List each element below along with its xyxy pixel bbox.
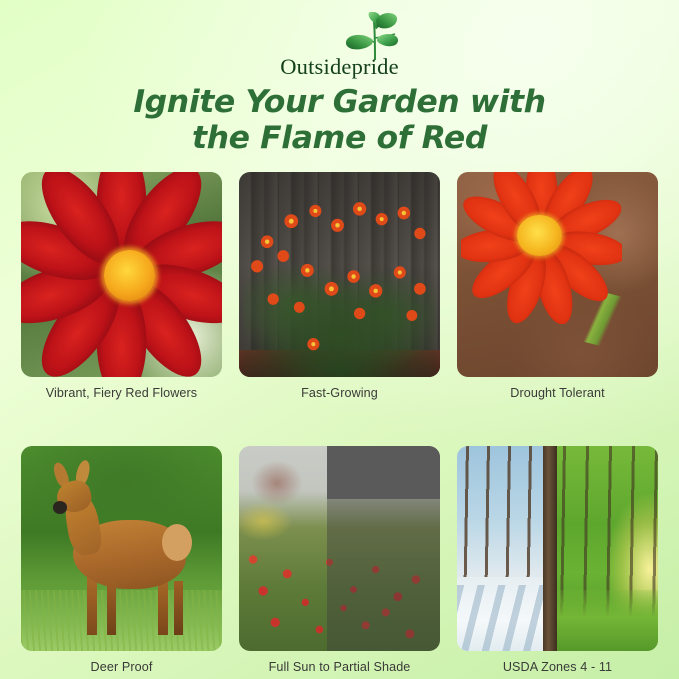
deer-leg <box>107 581 116 634</box>
page-title-line1: Ignite Your Garden with <box>133 84 545 120</box>
center-trunk <box>543 446 557 651</box>
feature-caption-vibrant-red-flowers: Vibrant, Fiery Red Flowers <box>21 386 222 400</box>
page-title: Ignite Your Garden with the Flame of Red <box>0 84 679 156</box>
feature-photo-fast-growing <box>239 172 440 377</box>
feature-photo-vibrant-red-flowers <box>21 172 222 377</box>
feature-caption-sun-exposure: Full Sun to Partial Shade <box>239 660 440 674</box>
deer-rump <box>162 524 192 561</box>
feature-caption-usda-zones: USDA Zones 4 - 11 <box>457 660 658 674</box>
snow-shadows <box>457 585 553 651</box>
feature-caption-drought-tolerant: Drought Tolerant <box>457 386 658 400</box>
brand-logo: Outsidepride <box>0 12 679 80</box>
feature-card-usda-zones: USDA Zones 4 - 11 <box>457 446 658 674</box>
shade-overlay-half <box>327 446 440 651</box>
flower-center <box>517 215 561 256</box>
feature-photo-usda-zones <box>457 446 658 651</box>
summer-grass <box>553 590 658 652</box>
deer-leg <box>87 577 97 634</box>
feature-caption-deer-proof: Deer Proof <box>21 660 222 674</box>
feature-card-sun-exposure: Full Sun to Partial Shade <box>239 446 440 674</box>
feature-card-deer-proof: Deer Proof <box>21 446 222 674</box>
feature-photo-sun-exposure <box>239 446 440 651</box>
brand-name: Outsidepride <box>247 54 432 80</box>
feature-photo-deer-proof <box>21 446 222 651</box>
deer-leg <box>158 577 168 634</box>
deer-leg <box>174 581 183 634</box>
feature-photo-drought-tolerant <box>457 172 658 377</box>
flower-center <box>104 250 154 301</box>
feature-card-vibrant-red-flowers: Vibrant, Fiery Red Flowers <box>21 172 222 400</box>
page-title-line2: the Flame of Red <box>0 120 679 156</box>
feature-grid: Vibrant, Fiery Red Flowers <box>21 172 658 674</box>
infographic-page: Outsidepride Ignite Your Garden with the… <box>0 0 679 679</box>
deer-snout <box>53 501 67 513</box>
grass-field <box>21 590 222 652</box>
feature-card-drought-tolerant: Drought Tolerant <box>457 172 658 400</box>
feature-row-bottom: Deer Proof Full Sun to Partial Shade <box>21 446 658 674</box>
feature-card-fast-growing: Fast-Growing <box>239 172 440 400</box>
feature-row-top: Vibrant, Fiery Red Flowers <box>21 172 658 400</box>
feature-caption-fast-growing: Fast-Growing <box>239 386 440 400</box>
